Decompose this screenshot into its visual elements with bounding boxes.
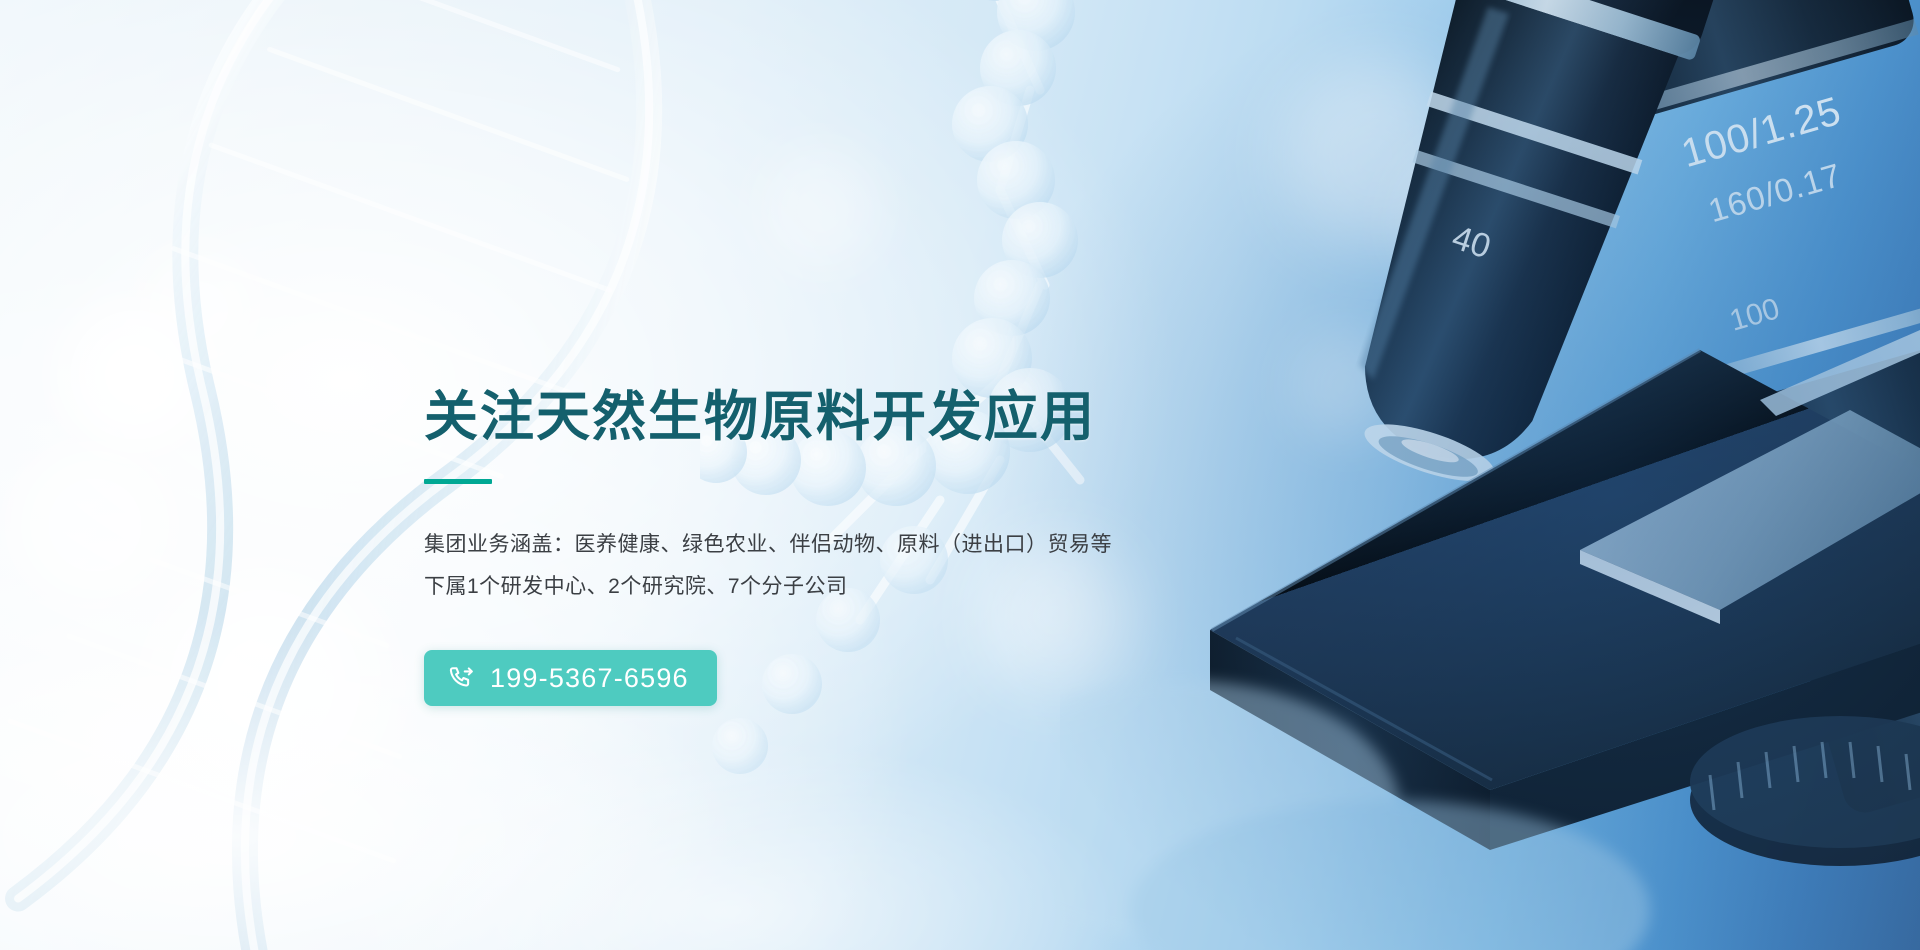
hero-description-line-1: 集团业务涵盖：医养健康、绿色农业、伴侣动物、原料（进出口）贸易等 — [424, 524, 1324, 566]
page-title: 关注天然生物原料开发应用 — [424, 388, 1324, 447]
phone-cta-button[interactable]: 199-5367-6596 — [424, 650, 717, 706]
lens-marking-100: 100 — [1726, 292, 1783, 338]
phone-number-label: 199-5367-6596 — [490, 665, 689, 692]
hero-description-line-2: 下属1个研发中心、2个研究院、7个分子公司 — [424, 566, 1324, 608]
title-divider — [424, 479, 492, 484]
hero-description: 集团业务涵盖：医养健康、绿色农业、伴侣动物、原料（进出口）贸易等 下属1个研发中… — [424, 524, 1324, 608]
hero-content: 关注天然生物原料开发应用 集团业务涵盖：医养健康、绿色农业、伴侣动物、原料（进出… — [424, 388, 1324, 706]
phone-forward-icon — [446, 663, 476, 693]
lens-marking-tube: 160/0.17 — [1704, 156, 1845, 229]
hero-banner: 100/1.25 160/0.17 100 40 — [0, 0, 1920, 950]
